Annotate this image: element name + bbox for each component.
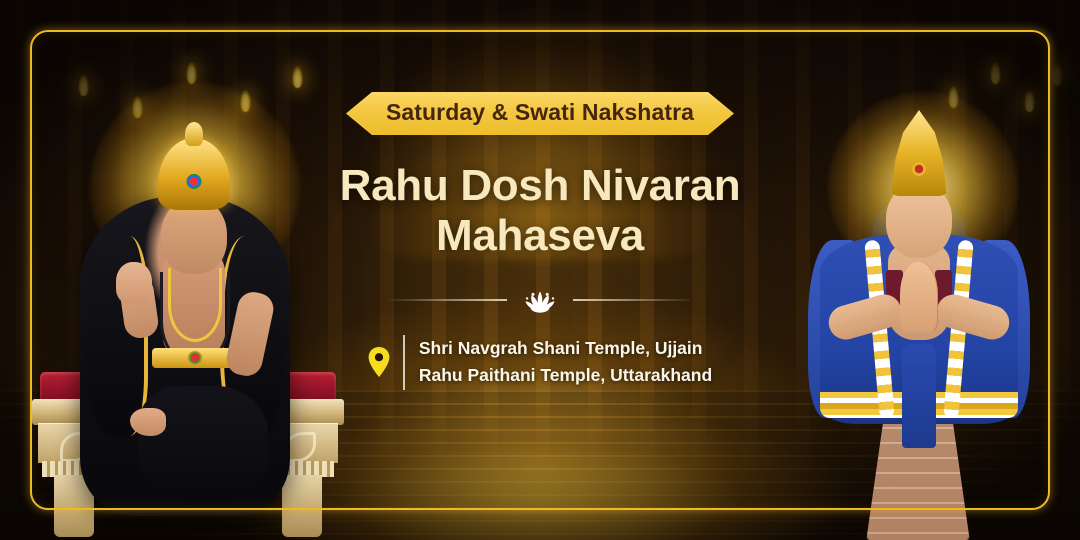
rahu-foot [130,408,166,436]
venue-block: Shri Navgrah Shani Temple, Ujjain Rahu P… [368,335,712,389]
title-line-2: Mahaseva [340,211,741,261]
page-title: Rahu Dosh Nivaran Mahaseva [340,161,741,261]
rahu-belt-gem [188,351,203,365]
location-pin-icon [368,347,390,377]
rahu-blessing-palm [116,262,152,304]
nakshatra-ribbon-label: Saturday & Swati Nakshatra [346,92,734,135]
rahu-crown-gem [187,174,202,189]
ketu-crown-gem [912,162,926,176]
title-line-1: Rahu Dosh Nivaran [340,161,741,211]
lotus-divider [390,287,690,313]
rahu-gold-necklace [168,268,222,342]
venue-line-1: Shri Navgrah Shani Temple, Ujjain [419,335,712,362]
rahu-belt [152,348,238,368]
lotus-icon [523,287,557,313]
rahu-deity-illustration [18,76,348,540]
rahu-leg [138,386,268,506]
venue-text: Shri Navgrah Shani Temple, Ujjain Rahu P… [419,335,712,389]
banner-content: Saturday & Swati Nakshatra Rahu Dosh Niv… [305,0,775,540]
divider-line-left [390,299,507,301]
divider-line-right [573,299,690,301]
ketu-front-sash [902,344,936,448]
ketu-namaste-hands-icon [900,262,938,332]
ketu-deity-illustration [794,92,1044,540]
venue-divider-rule [403,335,405,389]
venue-line-2: Rahu Paithani Temple, Uttarakhand [419,362,712,389]
promotional-banner: Saturday & Swati Nakshatra Rahu Dosh Niv… [0,0,1080,540]
